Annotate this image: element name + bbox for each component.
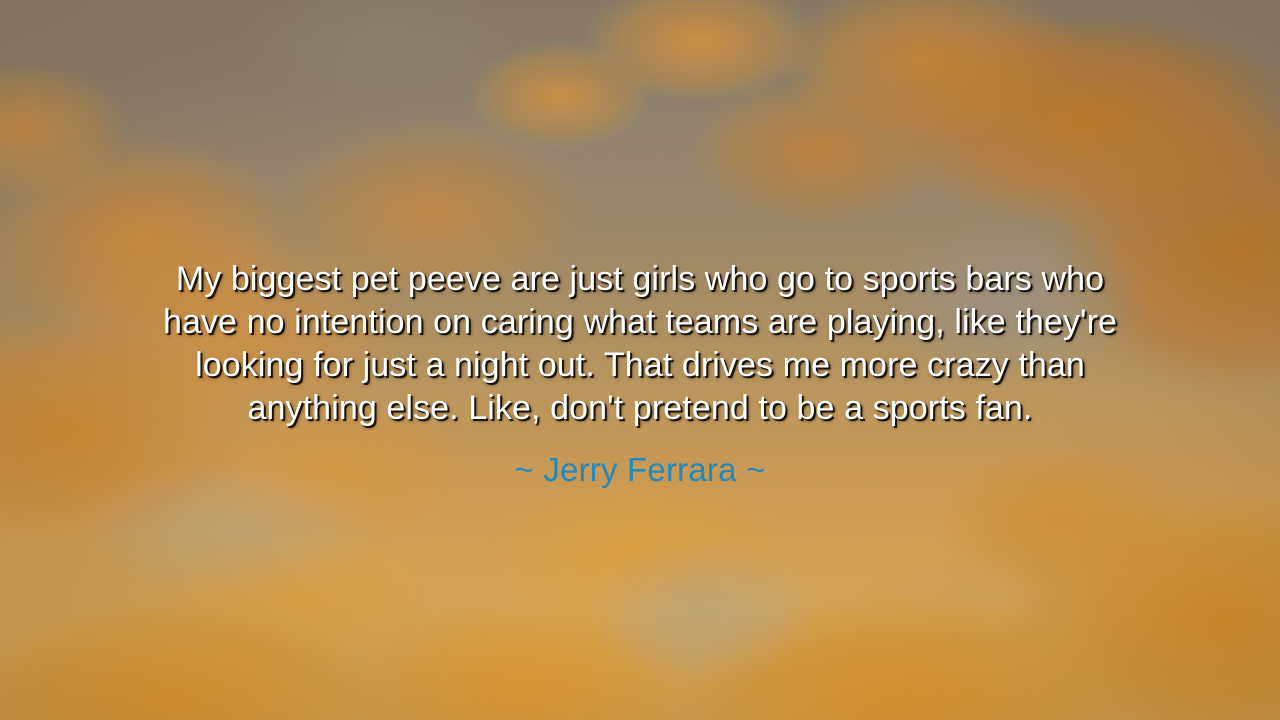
quote-block: My biggest pet peeve are just girls who …: [0, 258, 1280, 489]
quote-text: My biggest pet peeve are just girls who …: [60, 258, 1220, 430]
quote-attribution: ~ Jerry Ferrara ~: [60, 451, 1220, 489]
quote-image: My biggest pet peeve are just girls who …: [0, 0, 1280, 720]
